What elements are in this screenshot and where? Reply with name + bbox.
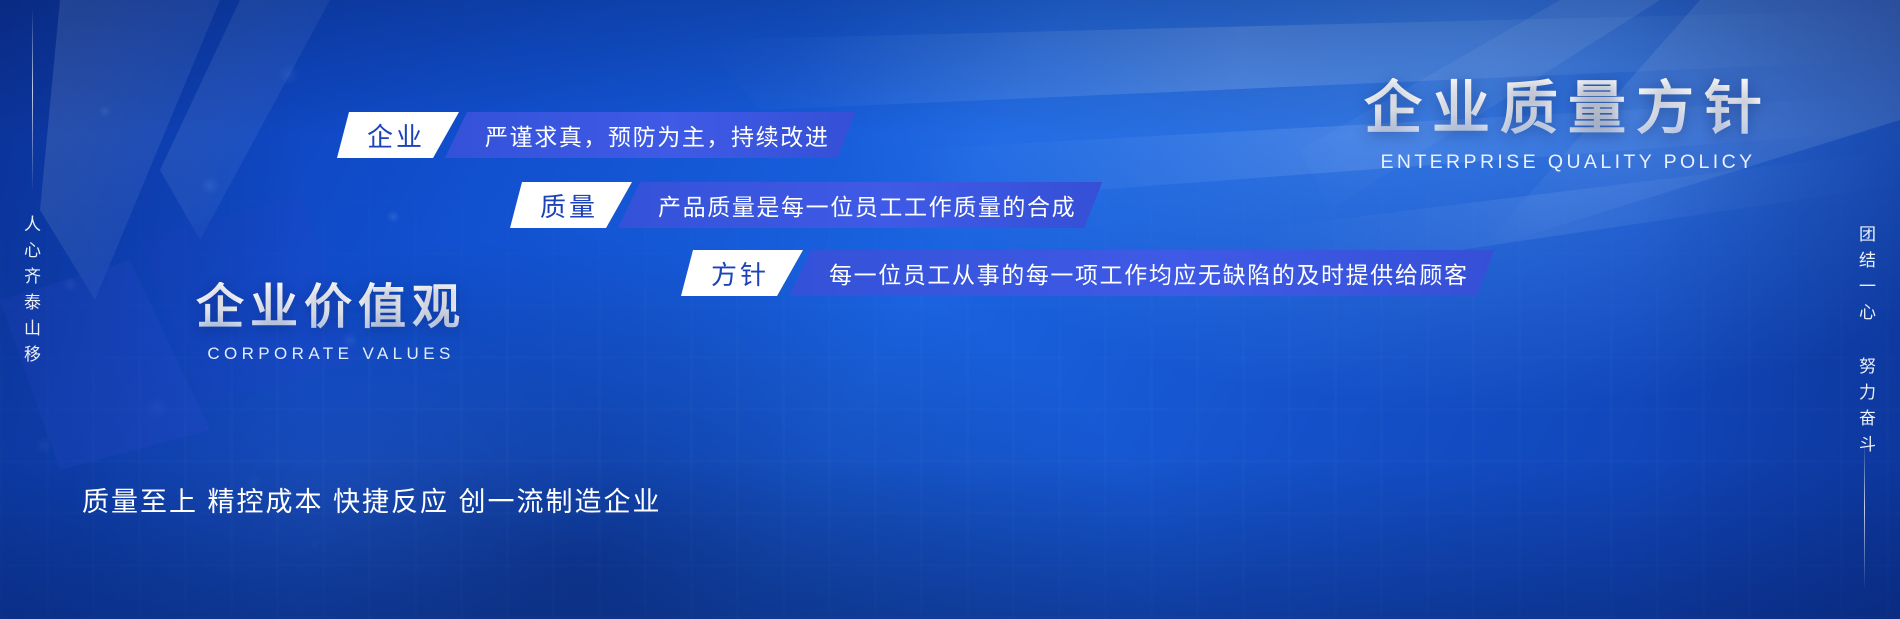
- slogan-tag-label: 企业: [367, 117, 425, 154]
- headline-title-en: ENTERPRISE QUALITY POLICY: [1364, 151, 1772, 174]
- slogan-tag-label: 质量: [540, 187, 598, 224]
- slogan-tag: 企业: [337, 112, 459, 158]
- slogan-tag: 方针: [681, 250, 803, 296]
- slogan-row: 质量 产品质量是每一位员工工作质量的合成: [510, 182, 1102, 228]
- slogan-banner-text: 每一位员工从事的每一项工作均应无缺陷的及时提供给顾客: [829, 256, 1469, 290]
- left-vertical-slogan: 人心齐泰山移: [18, 215, 43, 371]
- right-divider-line: [1864, 440, 1865, 590]
- headline-title-cn: 企业质量方针: [1364, 78, 1772, 141]
- slogan-row: 方针 每一位员工从事的每一项工作均应无缺陷的及时提供给顾客: [681, 250, 1495, 296]
- right-vertical-slogan: 团结一心 努力奋斗: [1853, 225, 1878, 461]
- values-tagline: 质量至上 精控成本 快捷反应 创一流制造企业: [82, 480, 662, 519]
- values-block: 企业价值观 CORPORATE VALUES: [196, 282, 466, 364]
- slogan-banner: 产品质量是每一位员工工作质量的合成: [618, 182, 1102, 228]
- headline-block: 企业质量方针 ENTERPRISE QUALITY POLICY: [1364, 78, 1772, 174]
- slogan-row: 企业 严谨求真，预防为主，持续改进: [337, 112, 855, 158]
- left-divider-line: [32, 8, 33, 193]
- banner-stage: 人心齐泰山移 团结一心 努力奋斗 企业质量方针 ENTERPRISE QUALI…: [0, 0, 1900, 619]
- slogan-banner: 严谨求真，预防为主，持续改进: [445, 112, 855, 158]
- slogan-banner: 每一位员工从事的每一项工作均应无缺陷的及时提供给顾客: [789, 250, 1495, 296]
- slogan-tag: 质量: [510, 182, 632, 228]
- slogan-banner-text: 产品质量是每一位员工工作质量的合成: [658, 188, 1076, 222]
- values-title-cn: 企业价值观: [196, 282, 466, 335]
- slogan-banner-text: 严谨求真，预防为主，持续改进: [485, 118, 829, 152]
- values-title-en: CORPORATE VALUES: [196, 344, 466, 364]
- slogan-tag-label: 方针: [711, 255, 769, 292]
